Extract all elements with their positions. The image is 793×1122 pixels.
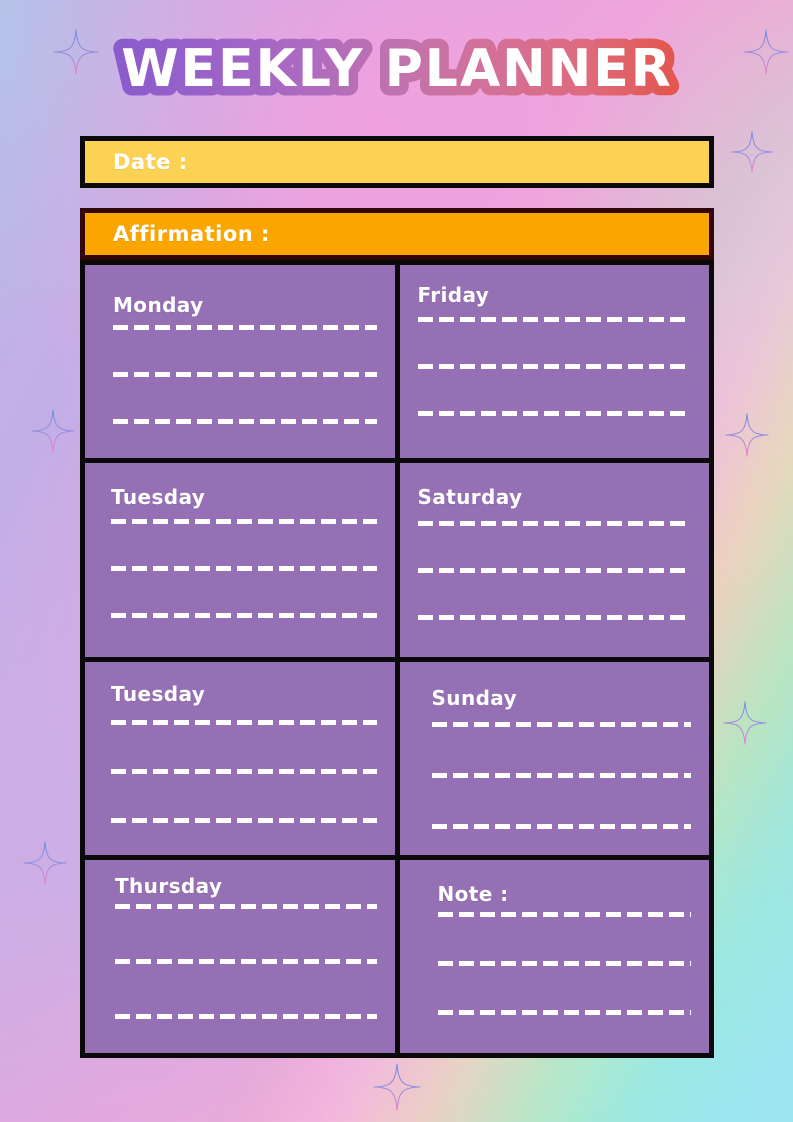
day-cell[interactable]: Tuesday bbox=[85, 463, 395, 656]
day-grid: MondayFridayTuesdaySaturdayTuesdaySunday… bbox=[80, 260, 714, 1058]
dashed-writing-line[interactable] bbox=[115, 904, 377, 909]
dashed-writing-line[interactable] bbox=[111, 720, 377, 725]
day-cell-label: Thursday bbox=[115, 874, 222, 898]
writing-lines[interactable] bbox=[418, 317, 692, 458]
dashed-writing-line[interactable] bbox=[438, 912, 692, 917]
affirmation-field[interactable]: Affirmation : bbox=[80, 208, 714, 260]
dashed-writing-line[interactable] bbox=[432, 773, 692, 778]
dashed-writing-line[interactable] bbox=[115, 959, 377, 964]
writing-lines[interactable] bbox=[438, 912, 692, 1053]
writing-lines[interactable] bbox=[113, 325, 377, 458]
dashed-writing-line[interactable] bbox=[418, 615, 692, 620]
day-cell-label: Friday bbox=[418, 283, 490, 307]
planner-page: WEEKLY PLANNER WEEKLY PLANNER Date : Aff… bbox=[0, 0, 793, 1122]
day-cell-label: Monday bbox=[113, 293, 204, 317]
day-cell[interactable]: Monday bbox=[85, 265, 395, 458]
writing-lines[interactable] bbox=[418, 521, 692, 656]
dashed-writing-line[interactable] bbox=[418, 411, 692, 416]
dashed-writing-line[interactable] bbox=[418, 521, 692, 526]
dashed-writing-line[interactable] bbox=[418, 364, 692, 369]
dashed-writing-line[interactable] bbox=[111, 769, 377, 774]
date-label: Date : bbox=[113, 150, 188, 174]
day-cell-label: Tuesday bbox=[111, 682, 205, 706]
writing-lines[interactable] bbox=[111, 720, 377, 855]
title-stack: WEEKLY PLANNER WEEKLY PLANNER bbox=[97, 34, 697, 110]
day-cell[interactable]: Note : bbox=[400, 860, 710, 1053]
day-cell[interactable]: Thursday bbox=[85, 860, 395, 1053]
dashed-writing-line[interactable] bbox=[418, 568, 692, 573]
dashed-writing-line[interactable] bbox=[438, 1010, 692, 1015]
dashed-writing-line[interactable] bbox=[111, 566, 377, 571]
day-cell-label: Saturday bbox=[418, 485, 523, 509]
writing-lines[interactable] bbox=[111, 519, 377, 656]
dashed-writing-line[interactable] bbox=[432, 722, 692, 727]
day-cell[interactable]: Tuesday bbox=[85, 662, 395, 855]
date-field[interactable]: Date : bbox=[80, 136, 714, 188]
dashed-writing-line[interactable] bbox=[111, 818, 377, 823]
day-cell-label: Sunday bbox=[432, 686, 518, 710]
dashed-writing-line[interactable] bbox=[432, 824, 692, 829]
dashed-writing-line[interactable] bbox=[418, 317, 692, 322]
dashed-writing-line[interactable] bbox=[438, 961, 692, 966]
dashed-writing-line[interactable] bbox=[113, 419, 377, 424]
title-svg: WEEKLY PLANNER WEEKLY PLANNER bbox=[97, 34, 697, 106]
day-cell-label: Tuesday bbox=[111, 485, 205, 509]
dashed-writing-line[interactable] bbox=[113, 325, 377, 330]
day-cell[interactable]: Sunday bbox=[400, 662, 710, 855]
day-cell-label: Note : bbox=[438, 882, 509, 906]
day-cell[interactable]: Saturday bbox=[400, 463, 710, 656]
svg-text:WEEKLY PLANNER: WEEKLY PLANNER bbox=[121, 39, 673, 99]
dashed-writing-line[interactable] bbox=[111, 519, 377, 524]
dashed-writing-line[interactable] bbox=[111, 613, 377, 618]
writing-lines[interactable] bbox=[432, 722, 692, 855]
day-cell[interactable]: Friday bbox=[400, 265, 710, 458]
dashed-writing-line[interactable] bbox=[115, 1014, 377, 1019]
affirmation-label: Affirmation : bbox=[113, 222, 270, 246]
page-title: WEEKLY PLANNER WEEKLY PLANNER bbox=[0, 34, 793, 106]
writing-lines[interactable] bbox=[115, 904, 377, 1053]
dashed-writing-line[interactable] bbox=[113, 372, 377, 377]
